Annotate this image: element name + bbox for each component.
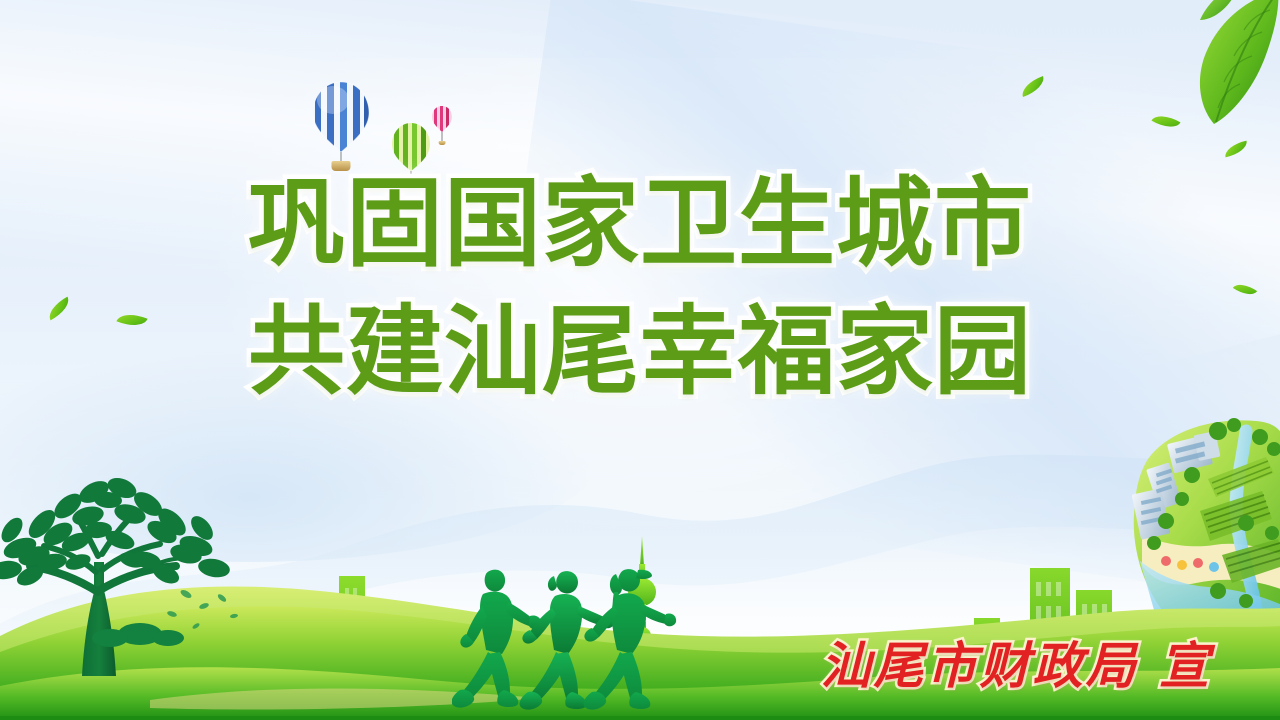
title-line-1: 巩固国家卫生城市 xyxy=(0,160,1280,288)
hot-air-balloon-pink xyxy=(432,106,452,132)
balloon-basket xyxy=(439,141,446,145)
leafy-tree-silhouette xyxy=(0,466,250,676)
running-figure-woman xyxy=(584,569,677,709)
signature-text: 汕尾市财政局 宣 xyxy=(821,626,1212,698)
title-line-2: 共建汕尾幸福家园 xyxy=(0,288,1280,416)
big-leaf-icon xyxy=(1166,0,1280,136)
hot-air-balloon-blue xyxy=(313,82,369,152)
poster-title: 巩固国家卫生城市 共建汕尾幸福家园 xyxy=(0,160,1280,416)
walking-people-group xyxy=(452,556,692,716)
poster-canvas: 巩固国家卫生城市 共建汕尾幸福家园 汕尾市财政局 宣 xyxy=(0,0,1280,720)
